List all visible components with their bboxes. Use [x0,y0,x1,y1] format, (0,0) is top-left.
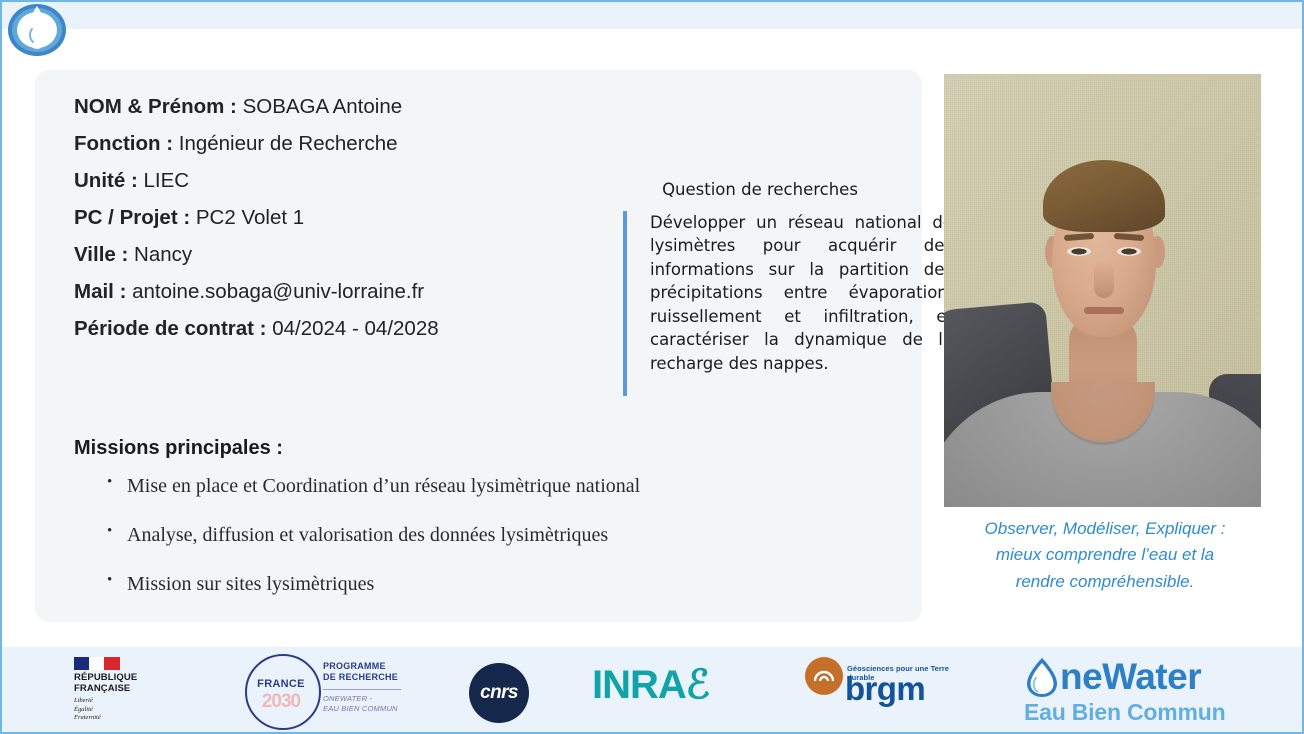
france-2030-logo: FRANCE 2030 PROGRAMME DE RECHERCHE ONEWA… [245,654,405,726]
portrait-eye-right [1117,247,1141,256]
research-question-block: Développer un réseau national de lysimèt… [623,211,955,396]
info-label: NOM & Prénom : [74,95,237,118]
french-flag-icon [74,657,120,670]
rf-motto-3: Fraternité [74,714,184,723]
info-value: Ingénieur de Recherche [173,132,398,155]
list-item: Mission sur sites lysimètriques [107,574,814,594]
list-item: Mise en place et Coordination d’un résea… [107,476,814,496]
france-2030-number: 2030 [251,691,311,713]
programme-sub-2: EAU BIEN COMMUN [323,704,407,714]
list-item: Analyse, diffusion et valorisation des d… [107,525,814,545]
programme-sub-1: ONEWATER - [323,694,407,704]
research-question-body: Développer un réseau national de lysimèt… [650,211,953,396]
onewater-main-text: neWater [1060,656,1201,697]
research-question-title: Question de recherches [595,180,925,199]
identity-info-block: NOM & Prénom : SOBAGA Antoine Fonction :… [74,97,594,356]
rf-motto: Liberté Égalité Fraternité [74,697,184,723]
slide-canvas: NOM & Prénom : SOBAGA Antoine Fonction :… [0,0,1304,734]
info-label: PC / Projet : [74,206,190,229]
info-label: Unité : [74,169,138,192]
caption-line-2: mieux comprendre l’eau et la [940,542,1270,568]
rf-motto-2: Égalité [74,706,184,715]
info-value: 04/2024 - 04/2028 [267,317,439,340]
portrait-photo [944,74,1261,507]
onewater-droplet-icon [1024,656,1060,698]
missions-section: Missions principales : Mise en place et … [74,437,814,623]
info-value: Nancy [128,243,192,266]
france-2030-text-block: PROGRAMME DE RECHERCHE ONEWATER - EAU BI… [323,661,407,714]
portrait-mouth [1084,307,1124,314]
onewater-logo: neWater Eau Bien Commun [1024,658,1254,724]
brgm-arc-icon [814,668,834,682]
info-value: antoine.sobaga@univ-lorraine.fr [126,280,424,303]
france-2030-france-label: FRANCE [253,678,309,690]
water-drop-logo [8,4,66,56]
info-row-city: Ville : Nancy [74,245,594,266]
info-label: Ville : [74,243,128,266]
info-row-function: Fonction : Ingénieur de Recherche [74,134,594,155]
programme-line-2: DE RECHERCHE [323,672,407,683]
brgm-name: brgm [845,672,925,705]
research-accent-bar [623,211,627,396]
caption-line-1: Observer, Modéliser, Expliquer : [940,516,1270,542]
rf-motto-1: Liberté [74,697,184,706]
info-row-name: NOM & Prénom : SOBAGA Antoine [74,97,594,118]
onewater-tagline: Eau Bien Commun [1024,701,1254,724]
photo-caption: Observer, Modéliser, Expliquer : mieux c… [940,516,1270,595]
portrait-nose [1094,260,1114,298]
info-label: Mail : [74,280,126,303]
missions-list: Mise en place et Coordination d’un résea… [74,476,814,594]
info-value: LIEC [138,169,189,192]
info-row-contract-period: Période de contrat : 04/2024 - 04/2028 [74,319,594,340]
caption-line-3: rendre compréhensible. [940,569,1270,595]
republique-francaise-logo: RÉPUBLIQUE FRANÇAISE Liberté Égalité Fra… [74,657,184,723]
cnrs-logo: cnrs [469,663,529,723]
inrae-logo: INRAℰ [592,665,709,705]
info-value: SOBAGA Antoine [237,95,402,118]
cnrs-label: cnrs [469,663,529,723]
portrait-eye-left [1067,247,1091,256]
brgm-logo: Géosciences pour une Terre durable brgm [805,655,975,717]
info-row-unit: Unité : LIEC [74,171,594,192]
rf-line-2: FRANÇAISE [74,684,184,695]
info-label: Fonction : [74,132,173,155]
profile-card: NOM & Prénom : SOBAGA Antoine Fonction :… [35,70,922,622]
info-value: PC2 Volet 1 [190,206,304,229]
info-row-project: PC / Projet : PC2 Volet 1 [74,208,594,229]
info-row-mail: Mail : antoine.sobaga@univ-lorraine.fr [74,282,594,303]
onewater-wordmark: neWater [1024,658,1254,696]
programme-line-1: PROGRAMME [323,661,407,672]
info-label: Période de contrat : [74,317,267,340]
missions-title: Missions principales : [74,437,814,460]
droplet-icon [24,5,50,51]
top-band [2,2,1304,29]
divider [323,689,401,690]
